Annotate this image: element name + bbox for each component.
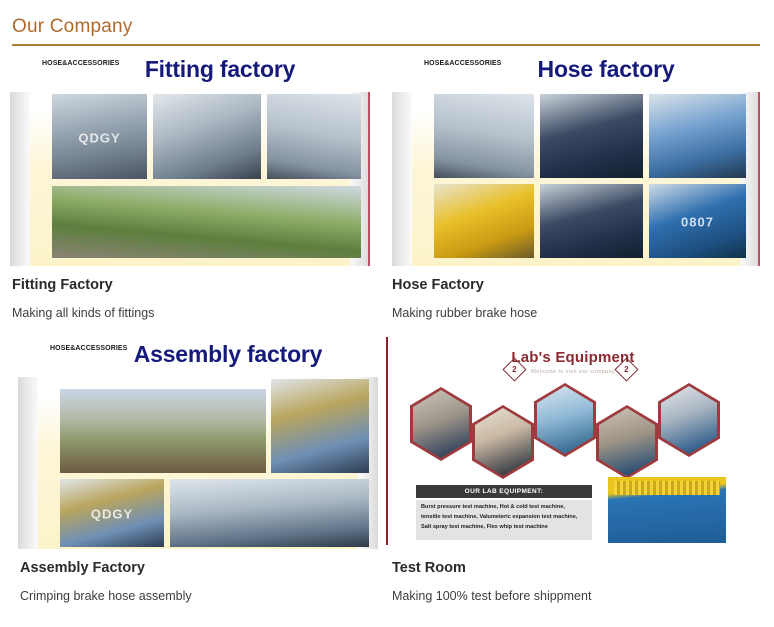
caption-test-room: Test Room Making 100% test before shippm…	[392, 560, 591, 603]
hex-photo	[472, 405, 534, 479]
lab-list-line: Salt spray test machine, Flex whip test …	[421, 523, 587, 533]
slide-image-fitting-factory: HOSE&ACCESSORIES Fitting factory QDGY	[10, 52, 370, 266]
hex-photo-inner	[413, 390, 469, 458]
lab-subtitle: Welcome to visit our company	[386, 369, 760, 375]
hex-photo	[596, 405, 658, 479]
lab-list-line: tensitle test machine, Valumeteric expan…	[421, 513, 587, 523]
slide-title: Fitting factory	[10, 56, 370, 83]
photo-tile	[60, 389, 266, 473]
caption-title: Test Room	[392, 560, 591, 576]
photo-tile: QDGY	[52, 94, 147, 179]
photo-tile	[267, 94, 361, 179]
photo-tile	[540, 184, 643, 258]
lab-test-bench-photo	[608, 477, 726, 543]
caption-assembly-factory: Assembly Factory Crimping brake hose ass…	[20, 560, 192, 603]
photo-tile	[153, 94, 261, 179]
hex-photo	[410, 387, 472, 461]
gallery-item-assembly-factory[interactable]: HOSE&ACCESSORIES Assembly factory QDGY	[18, 337, 378, 549]
title-divider	[12, 44, 760, 46]
photo-watermark: QDGY	[78, 131, 120, 146]
photo-tile	[52, 186, 361, 258]
slide-image-assembly-factory: HOSE&ACCESSORIES Assembly factory QDGY	[18, 337, 378, 549]
slide-image-hose-factory: HOSE&ACCESSORIES Hose factory 0807	[392, 52, 760, 266]
hex-photo	[658, 383, 720, 457]
photo-tile	[434, 94, 534, 178]
section-header: Our Company	[0, 0, 774, 48]
gallery-item-fitting-factory[interactable]: HOSE&ACCESSORIES Fitting factory QDGY	[10, 52, 370, 266]
photo-tile	[649, 94, 746, 178]
photo-tile	[434, 184, 534, 258]
photo-mosaic: QDGY	[20, 94, 360, 260]
hex-photo-inner	[599, 408, 655, 476]
gallery-item-hose-factory[interactable]: HOSE&ACCESSORIES Hose factory 0807	[392, 52, 760, 266]
hex-photo-inner	[661, 386, 717, 454]
photo-mosaic: 0807	[402, 94, 750, 260]
lab-header: Lab's Equipment Welcome to visit our com…	[386, 343, 760, 377]
photo-tile: QDGY	[60, 479, 164, 547]
slide-title: Assembly factory	[18, 341, 378, 368]
caption-title: Hose Factory	[392, 277, 537, 293]
photo-mosaic: QDGY	[28, 379, 368, 543]
badge-left-label: 2	[512, 365, 516, 374]
hex-photo	[534, 383, 596, 457]
photo-tile	[170, 479, 369, 547]
caption-subtitle: Making rubber brake hose	[392, 306, 537, 320]
photo-watermark: 0807	[681, 215, 714, 230]
lab-list-line: Burst pressure test machine, Hot & cold …	[421, 503, 587, 513]
caption-title: Fitting Factory	[12, 277, 154, 293]
our-company-page: Our Company HOSE&ACCESSORIES Fitting fac…	[0, 0, 774, 627]
slide-image-test-room: Lab's Equipment Welcome to visit our com…	[386, 337, 760, 545]
lab-equipment-list: Burst pressure test machine, Hot & cold …	[416, 500, 592, 540]
lab-banner: OUR LAB EQUIPMENT:	[416, 485, 592, 498]
hex-photo-inner	[537, 386, 593, 454]
page-title: Our Company	[12, 16, 132, 38]
slide-title: Hose factory	[392, 56, 760, 83]
caption-subtitle: Making all kinds of fittings	[12, 306, 154, 320]
caption-fitting-factory: Fitting Factory Making all kinds of fitt…	[12, 277, 154, 320]
caption-subtitle: Crimping brake hose assembly	[20, 589, 192, 603]
company-gallery-grid: HOSE&ACCESSORIES Fitting factory QDGY Fi…	[0, 52, 774, 627]
lab-hexagon-row	[394, 383, 754, 475]
caption-title: Assembly Factory	[20, 560, 192, 576]
photo-tile	[271, 379, 369, 473]
gallery-item-test-room[interactable]: Lab's Equipment Welcome to visit our com…	[386, 337, 760, 545]
caption-subtitle: Making 100% test before shippment	[392, 589, 591, 603]
hex-photo-inner	[475, 408, 531, 476]
lab-title: Lab's Equipment	[386, 349, 760, 366]
photo-tile: 0807	[649, 184, 746, 258]
caption-hose-factory: Hose Factory Making rubber brake hose	[392, 277, 537, 320]
badge-right-label: 2	[624, 365, 628, 374]
photo-tile	[540, 94, 643, 178]
photo-watermark: QDGY	[91, 507, 133, 522]
